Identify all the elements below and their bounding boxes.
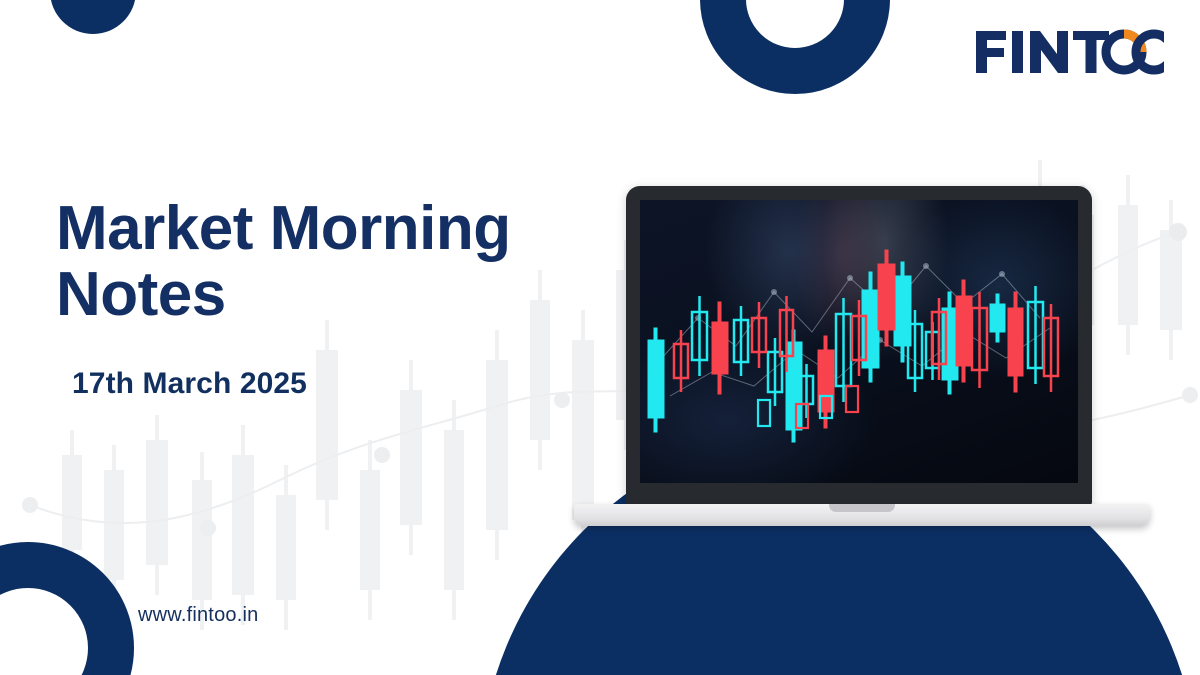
fintoo-logo-mark [974, 25, 1164, 79]
website-url[interactable]: www.fintoo.in [138, 604, 258, 627]
banner-canvas: FINTOO Market Morning Notes 17th March 2… [0, 0, 1200, 675]
issue-date: 17th March 2025 [72, 367, 596, 401]
decorative-navy-circle-top-left [50, 0, 136, 34]
page-title-line-1: Market Morning [56, 194, 511, 263]
candlestick-chart-overlay [640, 200, 1078, 483]
laptop-screen [640, 200, 1078, 483]
decorative-navy-ring-bottom-left [0, 542, 134, 675]
page-title: Market Morning Notes [56, 196, 596, 327]
page-title-line-2: Notes [56, 260, 226, 329]
fintoo-logo[interactable]: FINTOO [974, 24, 1164, 80]
laptop-base [574, 504, 1150, 526]
decorative-navy-ring-top [700, 0, 890, 94]
laptop-lid [626, 186, 1092, 506]
laptop-trackpad-notch [829, 504, 895, 512]
headline-block: Market Morning Notes 17th March 2025 [56, 196, 596, 401]
screen-photo [640, 200, 1078, 483]
